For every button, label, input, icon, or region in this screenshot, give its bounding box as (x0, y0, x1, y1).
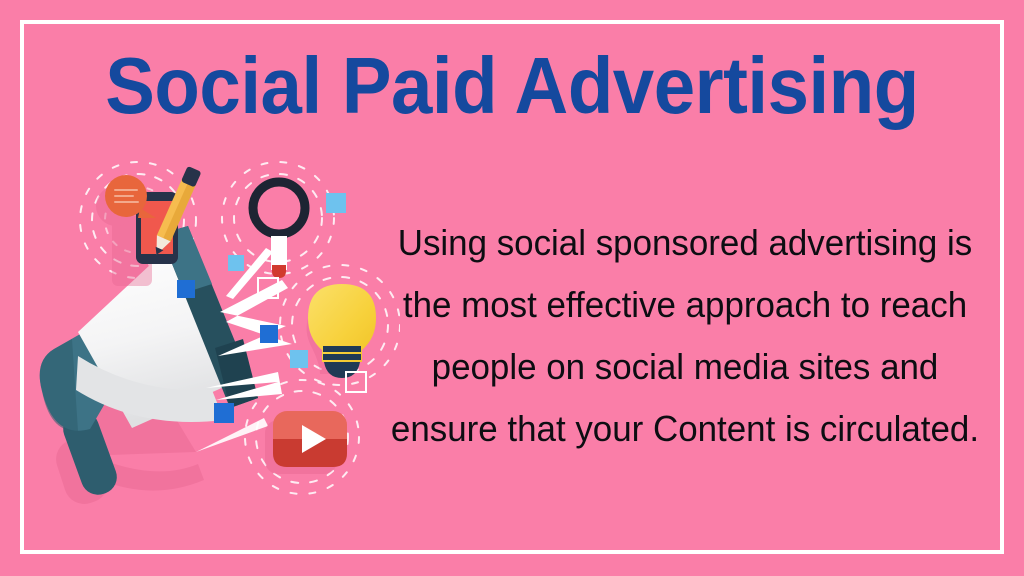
page-title: Social Paid Advertising (36, 46, 988, 126)
lightbulb-icon (307, 284, 376, 378)
play-button-icon (265, 411, 347, 474)
body-paragraph: Using social sponsored advertising is th… (389, 212, 981, 460)
megaphone-marketing-illustration (20, 160, 400, 510)
poster-canvas: Social Paid Advertising (0, 0, 1024, 576)
